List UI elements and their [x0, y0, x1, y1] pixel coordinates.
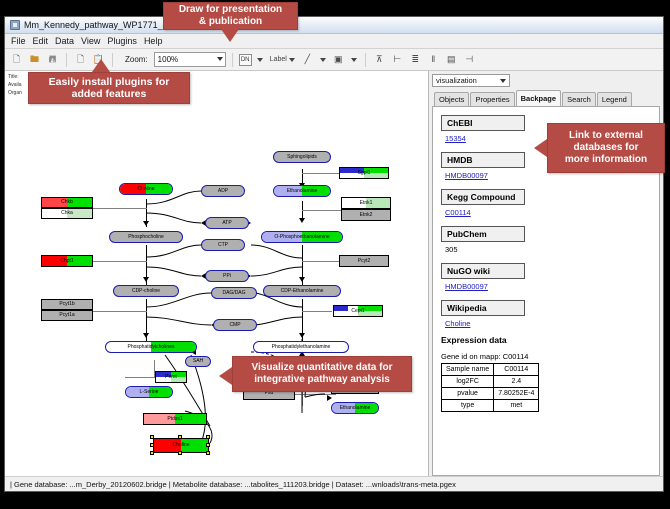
node-l-serine-left[interactable]: L-Serine	[125, 386, 173, 398]
node-label: Pcyt1b	[59, 302, 74, 307]
toolbar-divider-1	[66, 53, 67, 67]
node-ethanolamine-bottom[interactable]: Ethanolamine	[331, 402, 379, 414]
node-label: ADP	[218, 189, 228, 194]
node-label: CMP	[229, 323, 240, 328]
node-label: Pemt	[165, 375, 177, 380]
callout-plugins-pointer	[92, 59, 110, 72]
selection-handle-s[interactable]	[178, 451, 182, 455]
node-ppi[interactable]: PPi	[205, 270, 249, 282]
status-bar-text: | Gene database: ...m_Derby_20120602.bri…	[10, 480, 456, 489]
node-adp[interactable]: ADP	[201, 185, 245, 197]
node-label: ATP	[222, 221, 231, 226]
table-row: pvalue 7.80252E-4	[442, 388, 539, 400]
callout-plugins-line1: Easily install plugins for	[49, 76, 170, 88]
node-label: Ethanolamine	[287, 189, 318, 194]
node-cept1[interactable]: Cept1	[333, 305, 383, 317]
table-cell-label: type	[442, 400, 494, 412]
node-label: SAH	[193, 359, 203, 364]
distribute-vertical-icon[interactable]: ≣	[408, 52, 423, 67]
selection-handle-e[interactable]	[206, 443, 210, 447]
callout-draw-pointer	[221, 29, 239, 42]
chevron-down-icon	[217, 57, 223, 61]
node-label: Ethanolamine	[340, 406, 371, 411]
menu-item-file[interactable]: File	[11, 36, 26, 46]
new-file-icon[interactable]: 🗋	[9, 52, 24, 67]
backpage-header-pubchem: PubChem	[441, 226, 525, 242]
menu-item-edit[interactable]: Edit	[33, 36, 49, 46]
chevron-down-icon	[351, 58, 357, 62]
node-o-phosphoethanolamine[interactable]: O-Phosphoethanolamine	[261, 231, 343, 243]
node-label: Phosphocholine	[128, 235, 164, 240]
selection-handle-nw[interactable]	[150, 435, 154, 439]
toolbar-divider-4	[365, 53, 366, 67]
table-row: Sample name C00114	[442, 364, 539, 376]
backpage-link-wikipedia[interactable]: Choline	[445, 319, 655, 328]
chevron-down-icon	[257, 58, 263, 62]
copy-icon[interactable]: 🗋	[73, 52, 88, 67]
node-label: Chpt1	[60, 259, 73, 264]
tab-legend[interactable]: Legend	[597, 92, 632, 106]
shape-tool-dropdown[interactable]	[349, 52, 359, 67]
node-label: Etnk1	[360, 201, 373, 206]
node-cdp-ethanolamine[interactable]: CDP-Ethanolamine	[263, 285, 341, 297]
table-cell-label: log2FC	[442, 376, 494, 388]
node-label: Phosphatidylethanolamine	[272, 345, 331, 350]
node-label: Choline	[173, 443, 190, 448]
expr-half-up	[334, 306, 348, 311]
node-chpt1[interactable]: Chpt1	[41, 255, 93, 267]
node-ethanolamine-top[interactable]: Ethanolamine	[273, 185, 331, 197]
node-label: CDP-choline	[132, 289, 160, 294]
backpage-header-wikipedia: Wikipedia	[441, 300, 525, 316]
node-label: CTP	[218, 243, 228, 248]
backpage-link-kegg[interactable]: C00114	[445, 208, 655, 217]
node-cdp-choline[interactable]: CDP-choline	[113, 285, 179, 297]
zoom-select[interactable]: 100%	[154, 52, 226, 67]
node-label: Pcyt2	[358, 259, 371, 264]
callout-visualize-line2: integrative pathway analysis	[254, 374, 390, 386]
selection-handle-sw[interactable]	[150, 451, 154, 455]
callout-visualize: Visualize quantitative data for integrat…	[232, 356, 412, 392]
chevron-down-icon	[320, 58, 326, 62]
selection-handle-w[interactable]	[150, 443, 154, 447]
node-chka[interactable]: Chka	[41, 208, 93, 219]
toolbar-divider-2	[112, 53, 113, 67]
backpage-header-nugo: NuGO wiki	[441, 263, 525, 279]
backpage-header-hmdb: HMDB	[441, 152, 525, 168]
app-icon	[10, 20, 20, 30]
gene-id-line: Gene id on mapp: C00114	[441, 352, 655, 361]
callout-links-line1: Link to external	[569, 130, 643, 142]
align-bottom-icon[interactable]: ⊼	[372, 52, 387, 67]
menu-item-help[interactable]: Help	[144, 36, 163, 46]
node-atp[interactable]: ATP	[205, 217, 249, 229]
node-sah[interactable]: SAH	[185, 356, 211, 367]
node-label: CDP-Ethanolamine	[281, 289, 324, 294]
stack-center-icon[interactable]: ▤	[444, 52, 459, 67]
align-left-icon[interactable]: ⊢	[390, 52, 405, 67]
shape-tool-icon[interactable]: ▣	[331, 52, 346, 67]
callout-draw: Draw for presentation & publication	[163, 2, 298, 30]
arrow-ptdss2-etn	[327, 395, 332, 401]
table-cell-value: 2.4	[494, 376, 539, 388]
menu-item-plugins[interactable]: Plugins	[107, 36, 137, 46]
node-label: Chka	[61, 211, 73, 216]
node-label: PPi	[223, 274, 231, 279]
node-choline-top[interactable]: Choline	[119, 183, 173, 195]
node-chkb[interactable]: Chkb	[41, 197, 93, 208]
backpage-header-kegg: Kegg Compound	[441, 189, 525, 205]
visualization-value: visualization	[436, 76, 477, 85]
callout-links: Link to external databases for more info…	[547, 123, 665, 173]
node-pcyt2[interactable]: Pcyt2	[339, 255, 389, 267]
node-label: Etnk2	[360, 213, 373, 218]
tab-search[interactable]: Search	[562, 92, 596, 106]
table-row: log2FC 2.4	[442, 376, 539, 388]
callout-visualize-pointer	[219, 367, 232, 385]
callout-links-line3: more information	[565, 154, 647, 166]
label-tool[interactable]: Label	[268, 52, 297, 67]
node-label: Pcyt1a	[59, 313, 74, 318]
menu-item-view[interactable]: View	[81, 36, 100, 46]
backpage-value-pubchem: 305	[445, 245, 655, 254]
zoom-label: Zoom:	[125, 55, 148, 64]
node-label: O-Phosphoethanolamine	[274, 235, 329, 240]
visualization-select[interactable]: visualization	[432, 74, 510, 87]
node-label: DAG/DAG	[222, 291, 245, 296]
status-bar: | Gene database: ...m_Derby_20120602.bri…	[5, 476, 663, 491]
node-label: Phosphatidylcholines	[128, 345, 175, 350]
node-phosphatidylcholines[interactable]: Phosphatidylcholines	[105, 341, 197, 353]
node-dag[interactable]: DAG/DAG	[211, 287, 257, 299]
table-cell-value: met	[494, 400, 539, 412]
chevron-down-icon	[500, 79, 506, 83]
callout-draw-line2: & publication	[199, 16, 262, 28]
table-cell-label: pvalue	[442, 388, 494, 400]
table-cell-label: Sample name	[442, 364, 494, 376]
tab-properties[interactable]: Properties	[470, 92, 514, 106]
node-label: Choline	[138, 187, 155, 192]
zoom-value: 100%	[158, 55, 178, 64]
line-tool-icon[interactable]: ╱	[300, 52, 315, 67]
node-phosphatidylethanolamine[interactable]: Phosphatidylethanolamine	[253, 341, 349, 353]
callout-links-line2: databases for	[573, 142, 638, 154]
chevron-down-icon	[289, 58, 295, 62]
window-titlebar: Mm_Kennedy_pathway_WP1771_45176.gpml	[5, 17, 663, 34]
node-label: Ptdss1	[167, 417, 182, 422]
label-tool-text: Label	[270, 56, 287, 63]
node-sphingolipids[interactable]: Sphingolipids	[273, 151, 331, 163]
tab-objects[interactable]: Objects	[434, 92, 469, 106]
toolbar-divider-3	[232, 53, 233, 67]
menu-item-data[interactable]: Data	[55, 36, 74, 46]
node-pcyt1a[interactable]: Pcyt1a	[41, 310, 93, 321]
callout-visualize-line1: Visualize quantitative data for	[252, 362, 393, 374]
node-label: Sgpl1	[358, 171, 371, 176]
open-file-icon[interactable]: 🖿	[27, 52, 42, 67]
table-cell-value: C00114	[494, 364, 539, 376]
node-etnk2[interactable]: Etnk2	[341, 209, 391, 221]
selection-handle-n[interactable]	[178, 435, 182, 439]
node-phosphocholine[interactable]: Phosphocholine	[109, 231, 183, 243]
node-sgpl1[interactable]: Sgpl1	[339, 167, 389, 179]
pathway-canvas[interactable]: Title: Availa Organ	[5, 71, 429, 476]
menu-bar: File Edit Data View Plugins Help	[5, 34, 663, 49]
node-ptdss1[interactable]: Ptdss1	[143, 413, 207, 425]
node-etnk1[interactable]: Etnk1	[341, 197, 391, 209]
node-label: Cept1	[351, 309, 364, 314]
node-cmp[interactable]: CMP	[213, 319, 257, 331]
save-file-icon[interactable]: 🖪	[45, 52, 60, 67]
expression-data-title: Expression data	[441, 335, 655, 345]
line-tool-dropdown[interactable]	[318, 52, 328, 67]
node-pemt[interactable]: Pemt	[155, 371, 187, 383]
callout-plugins-line2: added features	[72, 88, 147, 100]
backpage-link-nugo[interactable]: HMDB00097	[445, 282, 655, 291]
tab-backpage[interactable]: Backpage	[516, 90, 561, 106]
callout-plugins: Easily install plugins for added feature…	[28, 72, 190, 104]
datanode-dropdown[interactable]	[255, 52, 265, 67]
node-label: Sphingolipids	[287, 155, 317, 160]
distribute-horizontal-icon[interactable]: ‖	[426, 52, 441, 67]
align-right-icon[interactable]: ⊣	[462, 52, 477, 67]
table-cell-value: 7.80252E-4	[494, 388, 539, 400]
callout-draw-line1: Draw for presentation	[179, 4, 282, 16]
node-ctp[interactable]: CTP	[201, 239, 245, 251]
node-pcyt1b[interactable]: Pcyt1b	[41, 299, 93, 310]
side-panel-tabs: Objects Properties Backpage Search Legen…	[432, 90, 660, 106]
datanode-icon[interactable]: DN	[239, 54, 252, 66]
callout-links-pointer	[534, 139, 547, 157]
expression-table: Sample name C00114 log2FC 2.4 pvalue 7.8…	[441, 363, 539, 412]
selection-handle-ne[interactable]	[206, 435, 210, 439]
node-label: Chkb	[61, 200, 73, 205]
backpage-header-chebi: ChEBI	[441, 115, 525, 131]
selection-handle-se[interactable]	[206, 451, 210, 455]
table-row: type met	[442, 400, 539, 412]
node-label: L-Serine	[140, 390, 159, 395]
